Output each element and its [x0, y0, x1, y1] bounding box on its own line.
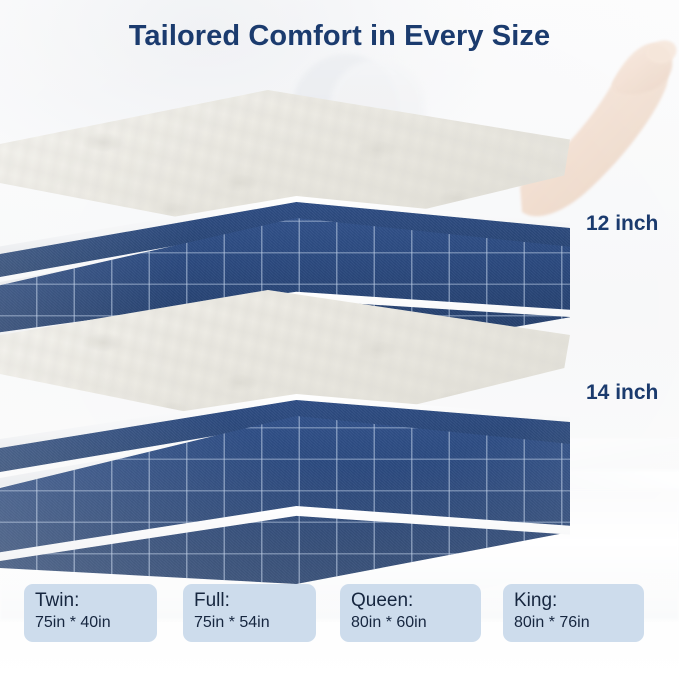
- mattress-12-inch: [0, 90, 600, 300]
- size-card-list: Twin: 75in * 40in Full: 75in * 54in Quee…: [0, 584, 679, 650]
- product-infographic: Tailored Comfort in Every Size 12 inch 1…: [0, 0, 679, 679]
- page-title: Tailored Comfort in Every Size: [0, 20, 679, 53]
- size-card-dimensions: 80in * 76in: [514, 612, 633, 633]
- size-card-name: Full:: [194, 589, 305, 612]
- size-card-dimensions: 75in * 54in: [194, 612, 305, 633]
- size-card-queen[interactable]: Queen: 80in * 60in: [340, 584, 481, 642]
- size-card-name: Queen:: [351, 589, 470, 612]
- size-card-full[interactable]: Full: 75in * 54in: [183, 584, 316, 642]
- mattress-14-inch: [0, 290, 600, 550]
- size-card-name: King:: [514, 589, 633, 612]
- size-card-dimensions: 75in * 40in: [35, 612, 146, 633]
- thickness-label-14-inch: 14 inch: [586, 381, 658, 405]
- size-card-dimensions: 80in * 60in: [351, 612, 470, 633]
- size-card-twin[interactable]: Twin: 75in * 40in: [24, 584, 157, 642]
- size-card-name: Twin:: [35, 589, 146, 612]
- thickness-label-12-inch: 12 inch: [586, 212, 658, 236]
- size-card-king[interactable]: King: 80in * 76in: [503, 584, 644, 642]
